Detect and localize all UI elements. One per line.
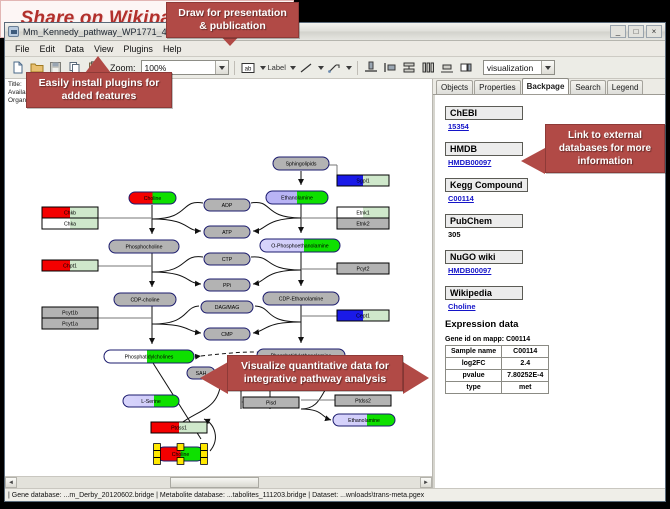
pathway-gene-etnk2[interactable]: Etnk2 — [337, 218, 389, 229]
pathway-metabolite-l-serine-left[interactable]: L-Serine — [123, 395, 179, 407]
close-button[interactable]: × — [646, 25, 662, 38]
metabolite-label: Phosphocholine — [126, 245, 163, 251]
pathway-metabolite-phosphocholine[interactable]: Phosphocholine — [109, 240, 179, 253]
gene-label: Pisd — [266, 401, 276, 407]
db-header-hmdb: HMDB — [445, 142, 523, 156]
zoom-value: 100% — [145, 63, 167, 73]
db-header-kegg: Kegg Compound — [445, 178, 528, 192]
gene-label: Ptdss2 — [355, 399, 371, 405]
gene-label: Etnk2 — [356, 222, 369, 228]
tab-objects[interactable]: Objects — [436, 80, 473, 94]
tab-legend[interactable]: Legend — [607, 80, 644, 94]
gene-label: Pcyt1b — [62, 311, 78, 317]
scroll-track[interactable] — [17, 477, 420, 488]
expression-data-title: Expression data — [445, 319, 659, 330]
pathway-editor-pane: Title: Availa Organ — [5, 79, 433, 488]
window-title-bar: Mm_Kennedy_pathway_WP1771_45176.gpml _ □… — [5, 23, 665, 41]
pathway-gene-etnk1[interactable]: Etnk1 — [337, 207, 389, 218]
pathway-metabolite-ethanolamine-2[interactable]: Ethanolamine — [333, 414, 395, 426]
gene-label: Pcyt2 — [357, 267, 370, 273]
pathway-gene-pcyt1a[interactable]: Pcyt1a — [42, 318, 98, 329]
gene-label: Chka — [64, 222, 76, 228]
distribute-icon[interactable] — [420, 59, 437, 76]
line-dropdown-caret[interactable] — [318, 66, 324, 70]
metabolite-label: PPi — [223, 283, 231, 289]
callout-arrow-visualize-right — [403, 362, 429, 394]
db-link-nugo[interactable]: HMDB00097 — [448, 266, 659, 275]
pathway-canvas[interactable]: Title: Availa Organ — [5, 79, 432, 476]
pathway-diagram[interactable]: SphingolipidsEthanolamineO-Phosphoethano… — [5, 79, 432, 476]
visualization-value: visualization — [487, 63, 533, 73]
db-value-pubchem: 305 — [448, 230, 659, 239]
pathway-gene-sgpl1[interactable]: Sgpl1 — [337, 175, 389, 186]
scroll-thumb[interactable] — [170, 477, 259, 488]
db-header-nugo: NuGO wiki — [445, 250, 523, 264]
db-header-chebi: ChEBI — [445, 106, 523, 120]
callout-arrow-links — [521, 148, 545, 174]
gene-label: Chpt1 — [63, 264, 77, 270]
scroll-right-arrow[interactable]: ► — [420, 477, 432, 488]
pathway-metabolite-cdp-ethanolamine[interactable]: CDP-Ethanolamine — [263, 292, 339, 305]
pathway-metabolite-ppi[interactable]: PPi — [204, 279, 250, 291]
pathway-metabolite-ethanolamine-1[interactable]: Ethanolamine — [266, 191, 328, 204]
callout-install-plugins: Easily install plugins for added feature… — [26, 72, 172, 108]
selection-handle[interactable] — [201, 451, 208, 458]
table-row: log2FC 2.4 — [446, 358, 549, 370]
callout-draw-for-presentation: Draw for presentation & publication — [166, 2, 299, 38]
callout-arrow-visualize-left — [200, 362, 228, 394]
datanode-dropdown-caret[interactable] — [260, 66, 266, 70]
status-bar-text: | Gene database: ...m_Derby_20120602.bri… — [8, 492, 424, 499]
line-icon[interactable] — [298, 59, 315, 76]
metabolite-label: CDP-choline — [130, 298, 159, 304]
metabolite-label: Sphingolipids — [286, 162, 317, 168]
window-controls: _ □ × — [610, 25, 662, 38]
status-bar: | Gene database: ...m_Derby_20120602.bri… — [5, 488, 665, 501]
db-link-wikipedia[interactable]: Choline — [448, 302, 659, 311]
metabolite-label: Choline — [144, 196, 162, 202]
canvas-horizontal-scrollbar[interactable]: ◄ ► — [5, 476, 432, 488]
table-row: pvalue 7.80252E-4 — [446, 370, 549, 382]
menu-edit[interactable]: Edit — [35, 44, 61, 54]
pathway-gene-chpt1[interactable]: Chpt1 — [42, 260, 98, 271]
metabolite-label: L-Serine — [141, 399, 161, 405]
selection-handle[interactable] — [201, 444, 208, 451]
selection-handle[interactable] — [154, 444, 161, 451]
menu-bar: File Edit Data View Plugins Help — [5, 41, 665, 57]
align-bottom-icon[interactable] — [363, 59, 380, 76]
tab-search[interactable]: Search — [570, 80, 605, 94]
selection-handle[interactable] — [201, 458, 208, 465]
chevron-down-icon[interactable] — [541, 61, 554, 74]
menu-plugins[interactable]: Plugins — [118, 44, 158, 54]
gene-label: Pcyt1a — [62, 322, 78, 328]
pathway-metabolite-phosphatidylcholines[interactable]: Phosphatidylcholines — [104, 350, 194, 363]
pathway-metabolite-cdp-choline[interactable]: CDP-choline — [114, 293, 176, 306]
toolbar-separator — [357, 61, 358, 75]
gene-id-label: Gene id on mapp: C00114 — [445, 336, 659, 343]
svg-text:ab: ab — [245, 66, 252, 72]
gene-label: Sgpl1 — [356, 179, 369, 185]
label-dropdown-caret[interactable] — [290, 66, 296, 70]
metabolite-label: Choline — [172, 452, 190, 458]
cell-key: Sample name — [446, 346, 502, 358]
callout-external-databases: Link to external databases for more info… — [545, 124, 665, 173]
metabolite-label: Phosphatidylcholines — [125, 355, 174, 361]
db-header-wikipedia: Wikipedia — [445, 286, 523, 300]
cell-value: 7.80252E-4 — [502, 370, 549, 382]
pathway-gene-chkb[interactable]: Chkb — [42, 207, 98, 218]
cell-key: log2FC — [446, 358, 502, 370]
pathway-gene-cept1[interactable]: Cept1 — [337, 310, 389, 321]
metabolite-label: O-Phosphoethanolamine — [271, 244, 329, 250]
pathway-metabolite-cmp[interactable]: CMP — [204, 328, 250, 340]
bring-front-icon[interactable] — [458, 59, 475, 76]
pathway-metabolite-o-phosphoethanolamine[interactable]: O-Phosphoethanolamine — [260, 239, 340, 252]
metabolite-label: CDP-Ethanolamine — [279, 297, 324, 303]
metabolite-label: DAG/MAG — [215, 305, 240, 311]
selection-handle[interactable] — [154, 458, 161, 465]
size-icon[interactable] — [439, 59, 456, 76]
metabolite-label: Ethanolamine — [281, 196, 313, 202]
cell-key: pvalue — [446, 370, 502, 382]
maximize-button[interactable]: □ — [628, 25, 644, 38]
metabolite-label: ATP — [222, 230, 232, 236]
metabolite-label: CTP — [222, 257, 233, 263]
minimize-button[interactable]: _ — [610, 25, 626, 38]
pathway-gene-ptdss2[interactable]: Ptdss2 — [335, 395, 391, 406]
toolbar-separator — [234, 61, 235, 75]
stack-icon[interactable] — [401, 59, 418, 76]
callout-visualize-quantitative-data: Visualize quantitative data for integrat… — [227, 355, 403, 391]
label-button[interactable]: Label — [268, 63, 286, 72]
gene-label: Etnk1 — [356, 211, 369, 217]
anchor-dropdown-caret[interactable] — [346, 66, 352, 70]
metabolite-label: CMP — [221, 332, 233, 338]
pathway-gene-chka[interactable]: Chka — [42, 218, 98, 229]
screenshot-root: Mm_Kennedy_pathway_WP1771_45176.gpml _ □… — [0, 0, 670, 509]
pathway-metabolite-atp[interactable]: ATP — [204, 226, 250, 238]
tab-backpage[interactable]: Backpage — [522, 78, 570, 94]
tab-properties[interactable]: Properties — [474, 80, 520, 94]
selection-handle[interactable] — [177, 458, 184, 465]
side-panel-tabs: Objects Properties Backpage Search Legen… — [433, 79, 665, 95]
cell-key: type — [446, 382, 502, 394]
scroll-left-arrow[interactable]: ◄ — [5, 477, 17, 488]
app-icon — [8, 26, 19, 37]
gene-label: Ptdss1 — [171, 426, 187, 432]
visualization-combo[interactable]: visualization — [483, 60, 555, 75]
menu-data[interactable]: Data — [60, 44, 89, 54]
datanode-icon[interactable]: ab — [240, 59, 257, 76]
pathway-metabolite-ctp[interactable]: CTP — [204, 253, 250, 265]
zoom-label: Zoom: — [110, 63, 136, 73]
table-row: type met — [446, 382, 549, 394]
gene-label: Chkb — [64, 211, 76, 217]
db-header-pubchem: PubChem — [445, 214, 523, 228]
cell-value: C00114 — [502, 346, 549, 358]
cell-value: met — [502, 382, 549, 394]
menu-view[interactable]: View — [89, 44, 118, 54]
pathway-metabolite-sphingolipids[interactable]: Sphingolipids — [273, 157, 329, 170]
pathway-gene-pisd[interactable]: Pisd — [243, 397, 299, 408]
align-left-icon[interactable] — [382, 59, 399, 76]
anchor-icon[interactable] — [326, 59, 343, 76]
table-row: Sample name C00114 — [446, 346, 549, 358]
selection-handle[interactable] — [154, 451, 161, 458]
pathway-gene-ptdss1[interactable]: Ptdss1 — [151, 422, 207, 433]
cell-value: 2.4 — [502, 358, 549, 370]
pathway-metabolite-dagmag[interactable]: DAG/MAG — [201, 301, 253, 313]
metabolite-label: Ethanolamine — [348, 418, 380, 424]
gene-label: Cept1 — [356, 314, 370, 320]
db-link-kegg[interactable]: C00114 — [448, 194, 659, 203]
menu-file[interactable]: File — [10, 44, 35, 54]
chevron-down-icon[interactable] — [215, 61, 228, 74]
metabolite-label: ADP — [222, 203, 233, 209]
callout-arrow-plugins — [85, 56, 111, 73]
new-file-icon[interactable] — [9, 59, 26, 76]
menu-help[interactable]: Help — [158, 44, 187, 54]
selection-handle[interactable] — [177, 444, 184, 451]
pathway-gene-pcyt2[interactable]: Pcyt2 — [337, 263, 389, 274]
pathway-metabolite-choline-top[interactable]: Choline — [129, 192, 176, 204]
expression-data-table: Sample name C00114 log2FC 2.4 pvalue 7.8… — [445, 345, 549, 394]
pathway-metabolite-adp[interactable]: ADP — [204, 199, 250, 211]
pathway-gene-pcyt1b[interactable]: Pcyt1b — [42, 307, 98, 318]
